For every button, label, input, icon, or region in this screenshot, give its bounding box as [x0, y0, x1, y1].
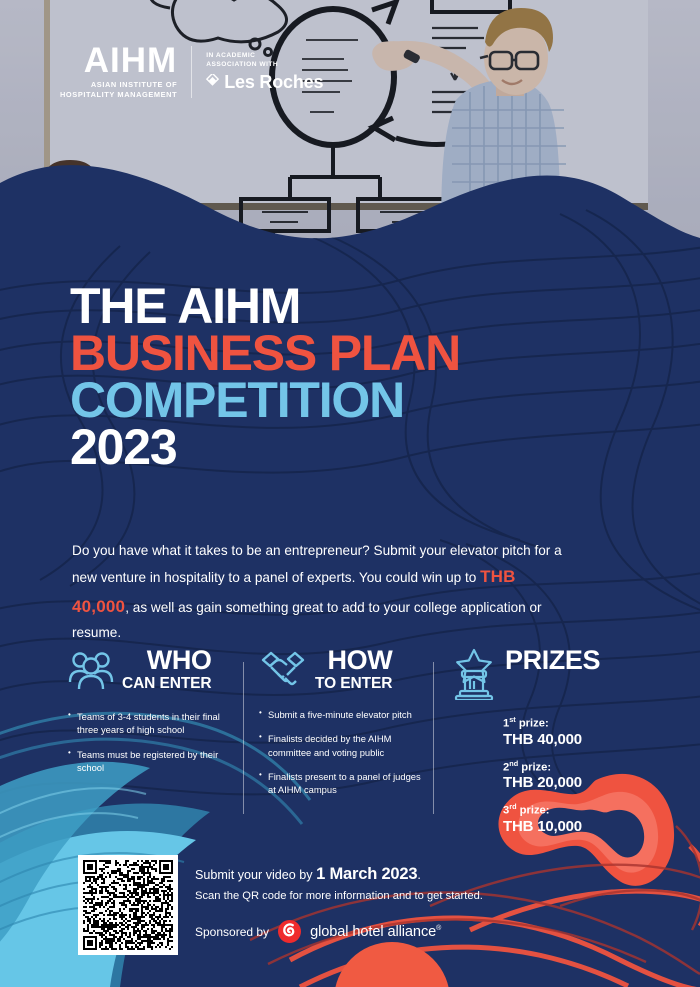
column-how-subtitle: TO ENTER: [315, 676, 392, 692]
headline-line-3: COMPETITION: [70, 377, 460, 424]
aihm-wordmark: AIHM: [84, 44, 177, 77]
deadline-line: Submit your video by 1 March 2023.: [195, 863, 615, 887]
headline-line-2: BUSINESS PLAN: [70, 330, 460, 377]
scan-instruction: Scan the QR code for more information an…: [195, 888, 615, 904]
list-item: Finalists decided by the AIHM committee …: [259, 732, 431, 759]
les-roches-diamond-icon: [206, 74, 219, 92]
column-how-title: HOW: [328, 648, 393, 674]
association-line2: ASSOCIATION WITH: [206, 60, 323, 69]
sponsor-trademark: ®: [436, 925, 441, 932]
prize-3-ordinal: rd: [509, 802, 516, 811]
trophy-icon: [451, 648, 497, 705]
column-who-title: WHO: [147, 648, 212, 674]
column-prizes-header: PRIZES: [451, 648, 651, 705]
headline-line-1: THE AIHM: [70, 283, 460, 330]
column-who-header: WHO CAN ENTER: [68, 648, 238, 695]
aihm-subtitle-line2: HOSPITALITY MANAGEMENT: [60, 90, 177, 100]
column-who-subtitle: CAN ENTER: [122, 676, 212, 692]
aihm-subtitle-line1: ASIAN INSTITUTE OF: [60, 80, 177, 90]
column-divider-2: [433, 662, 434, 814]
sponsored-by-label: Sponsored by: [195, 925, 269, 939]
prize-2-label: 2nd prize:: [503, 759, 651, 775]
column-who-titles: WHO CAN ENTER: [122, 648, 212, 692]
list-item: Teams must be registered by their school: [68, 748, 238, 775]
column-prizes-title: PRIZES: [505, 648, 600, 674]
deadline-suffix: .: [417, 868, 421, 882]
column-prizes: PRIZES 1st prize: THB 40,000 2nd prize: …: [451, 648, 651, 846]
intro-part-2: , as well as gain something great to add…: [72, 600, 542, 641]
column-how-header: HOW TO ENTER: [259, 648, 431, 693]
intro-paragraph: Do you have what it takes to be an entre…: [72, 539, 572, 645]
logo-divider: [191, 46, 192, 98]
association-line1: IN ACADEMIC: [206, 51, 323, 60]
qr-code[interactable]: [78, 855, 178, 955]
partner-logo: IN ACADEMIC ASSOCIATION WITH Les Roches: [206, 51, 323, 93]
people-group-icon: [68, 648, 114, 695]
prize-1-suffix: prize:: [516, 718, 549, 730]
prize-row-1: 1st prize: THB 40,000: [503, 715, 651, 749]
deadline-prefix: Submit your video by: [195, 868, 316, 882]
column-how-titles: HOW TO ENTER: [315, 648, 392, 692]
column-divider-1: [243, 662, 244, 814]
prize-1-label: 1st prize:: [503, 715, 651, 731]
les-roches-name: Les Roches: [224, 72, 323, 93]
gha-logo-icon: [278, 920, 301, 943]
aihm-logo-left: AIHM ASIAN INSTITUTE OF HOSPITALITY MANA…: [60, 44, 177, 100]
column-who-bullets: Teams of 3-4 students in their final thr…: [68, 710, 238, 774]
les-roches-lockup: Les Roches: [206, 72, 323, 93]
list-item: Teams of 3-4 students in their final thr…: [68, 710, 238, 737]
sponsor-block: Sponsored by global hotel alliance®: [195, 920, 441, 943]
headline-line-4: 2023: [70, 424, 460, 471]
prize-row-2: 2nd prize: THB 20,000: [503, 759, 651, 793]
list-item: Finalists present to a panel of judges a…: [259, 770, 431, 797]
deadline-date: 1 March 2023: [316, 865, 417, 883]
column-who: WHO CAN ENTER Teams of 3-4 students in t…: [68, 648, 238, 790]
prize-2-ordinal: nd: [509, 759, 518, 768]
prize-3-suffix: prize:: [517, 805, 550, 817]
aihm-logo: AIHM ASIAN INSTITUTE OF HOSPITALITY MANA…: [60, 44, 323, 100]
prize-3-label: 3rd prize:: [503, 802, 651, 818]
aihm-logo-subtitle: ASIAN INSTITUTE OF HOSPITALITY MANAGEMEN…: [60, 80, 177, 100]
column-how: HOW TO ENTER Submit a five-minute elevat…: [259, 648, 431, 813]
footer-text: Submit your video by 1 March 2023. Scan …: [195, 863, 615, 904]
prize-2-suffix: prize:: [518, 761, 551, 773]
prize-row-3: 3rd prize: THB 10,000: [503, 802, 651, 836]
sponsor-name: global hotel alliance®: [310, 924, 441, 940]
prize-3-amount: THB 10,000: [503, 818, 651, 836]
prize-1-amount: THB 40,000: [503, 731, 651, 749]
handshake-icon: [259, 648, 307, 693]
list-item: Submit a five-minute elevator pitch: [259, 708, 431, 721]
headline: THE AIHM BUSINESS PLAN COMPETITION 2023: [70, 283, 460, 471]
column-prizes-titles: PRIZES: [505, 648, 600, 674]
prize-2-amount: THB 20,000: [503, 774, 651, 792]
prize-list: 1st prize: THB 40,000 2nd prize: THB 20,…: [503, 715, 651, 836]
column-how-bullets: Submit a five-minute elevator pitch Fina…: [259, 708, 431, 797]
poster: AIHM ASIAN INSTITUTE OF HOSPITALITY MANA…: [0, 0, 700, 987]
sponsor-name-text: global hotel alliance: [310, 924, 436, 940]
partner-association-text: IN ACADEMIC ASSOCIATION WITH: [206, 51, 323, 69]
